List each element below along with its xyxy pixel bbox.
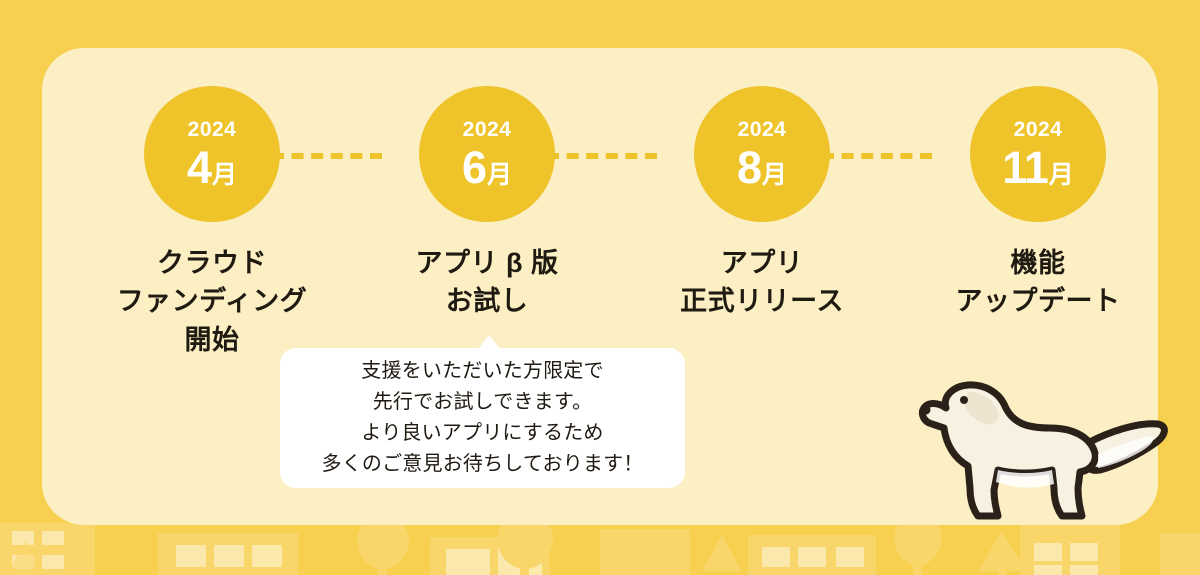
milestone-label-4: 機能 アップデート	[908, 244, 1168, 321]
milestone-month-unit-4: 月	[1049, 163, 1074, 188]
milestone-badge-2: 2024 6 月	[419, 86, 555, 222]
golden-retriever-dog-illustration	[902, 366, 1182, 536]
timeline-step-feature-update[interactable]: 2024 11 月 機能 アップデート	[908, 86, 1168, 321]
roadmap-banner: 2024 4 月 クラウド ファンディング 開始 2024 6 月	[0, 0, 1200, 575]
timeline-step-crowdfunding-start[interactable]: 2024 4 月 クラウド ファンディング 開始	[82, 86, 342, 359]
milestone-month-number-1: 4	[187, 145, 211, 190]
milestone-year-3: 2024	[738, 119, 787, 140]
milestone-badge-1: 2024 4 月	[144, 86, 280, 222]
milestone-month-unit-2: 月	[487, 163, 512, 188]
callout-text: 支援をいただいた方限定で 先行でお試しできます。 より良いアプリにするため 多く…	[322, 356, 644, 481]
milestone-month-unit-1: 月	[212, 163, 237, 188]
milestone-month-unit-3: 月	[762, 163, 787, 188]
callout-bubble: 支援をいただいた方限定で 先行でお試しできます。 より良いアプリにするため 多く…	[280, 348, 685, 488]
milestone-year-1: 2024	[188, 119, 237, 140]
milestone-label-2: アプリ β 版 お試し	[357, 244, 617, 321]
callout-bubble-tail	[478, 335, 500, 349]
milestone-month-number-3: 8	[737, 145, 761, 190]
milestone-month-1: 4 月	[187, 145, 237, 190]
milestone-month-number-2: 6	[462, 145, 486, 190]
timeline-step-app-beta-trial[interactable]: 2024 6 月 アプリ β 版 お試し	[357, 86, 617, 321]
milestone-month-3: 8 月	[737, 145, 787, 190]
dog-eye	[960, 396, 968, 404]
milestone-month-number-4: 11	[1002, 145, 1048, 190]
timeline: 2024 4 月 クラウド ファンディング 開始 2024 6 月	[42, 48, 1158, 338]
timeline-step-app-official-release[interactable]: 2024 8 月 アプリ 正式リリース	[632, 86, 892, 321]
roadmap-card: 2024 4 月 クラウド ファンディング 開始 2024 6 月	[42, 48, 1158, 525]
dog-svg	[902, 366, 1182, 536]
milestone-label-3: アプリ 正式リリース	[632, 244, 892, 321]
milestone-month-2: 6 月	[462, 145, 512, 190]
milestone-badge-3: 2024 8 月	[694, 86, 830, 222]
milestone-month-4: 11 月	[1002, 145, 1074, 190]
dog-nose	[922, 406, 931, 415]
milestone-year-4: 2024	[1014, 119, 1063, 140]
milestone-label-1: クラウド ファンディング 開始	[82, 244, 342, 359]
milestone-year-2: 2024	[463, 119, 512, 140]
milestone-badge-4: 2024 11 月	[970, 86, 1106, 222]
